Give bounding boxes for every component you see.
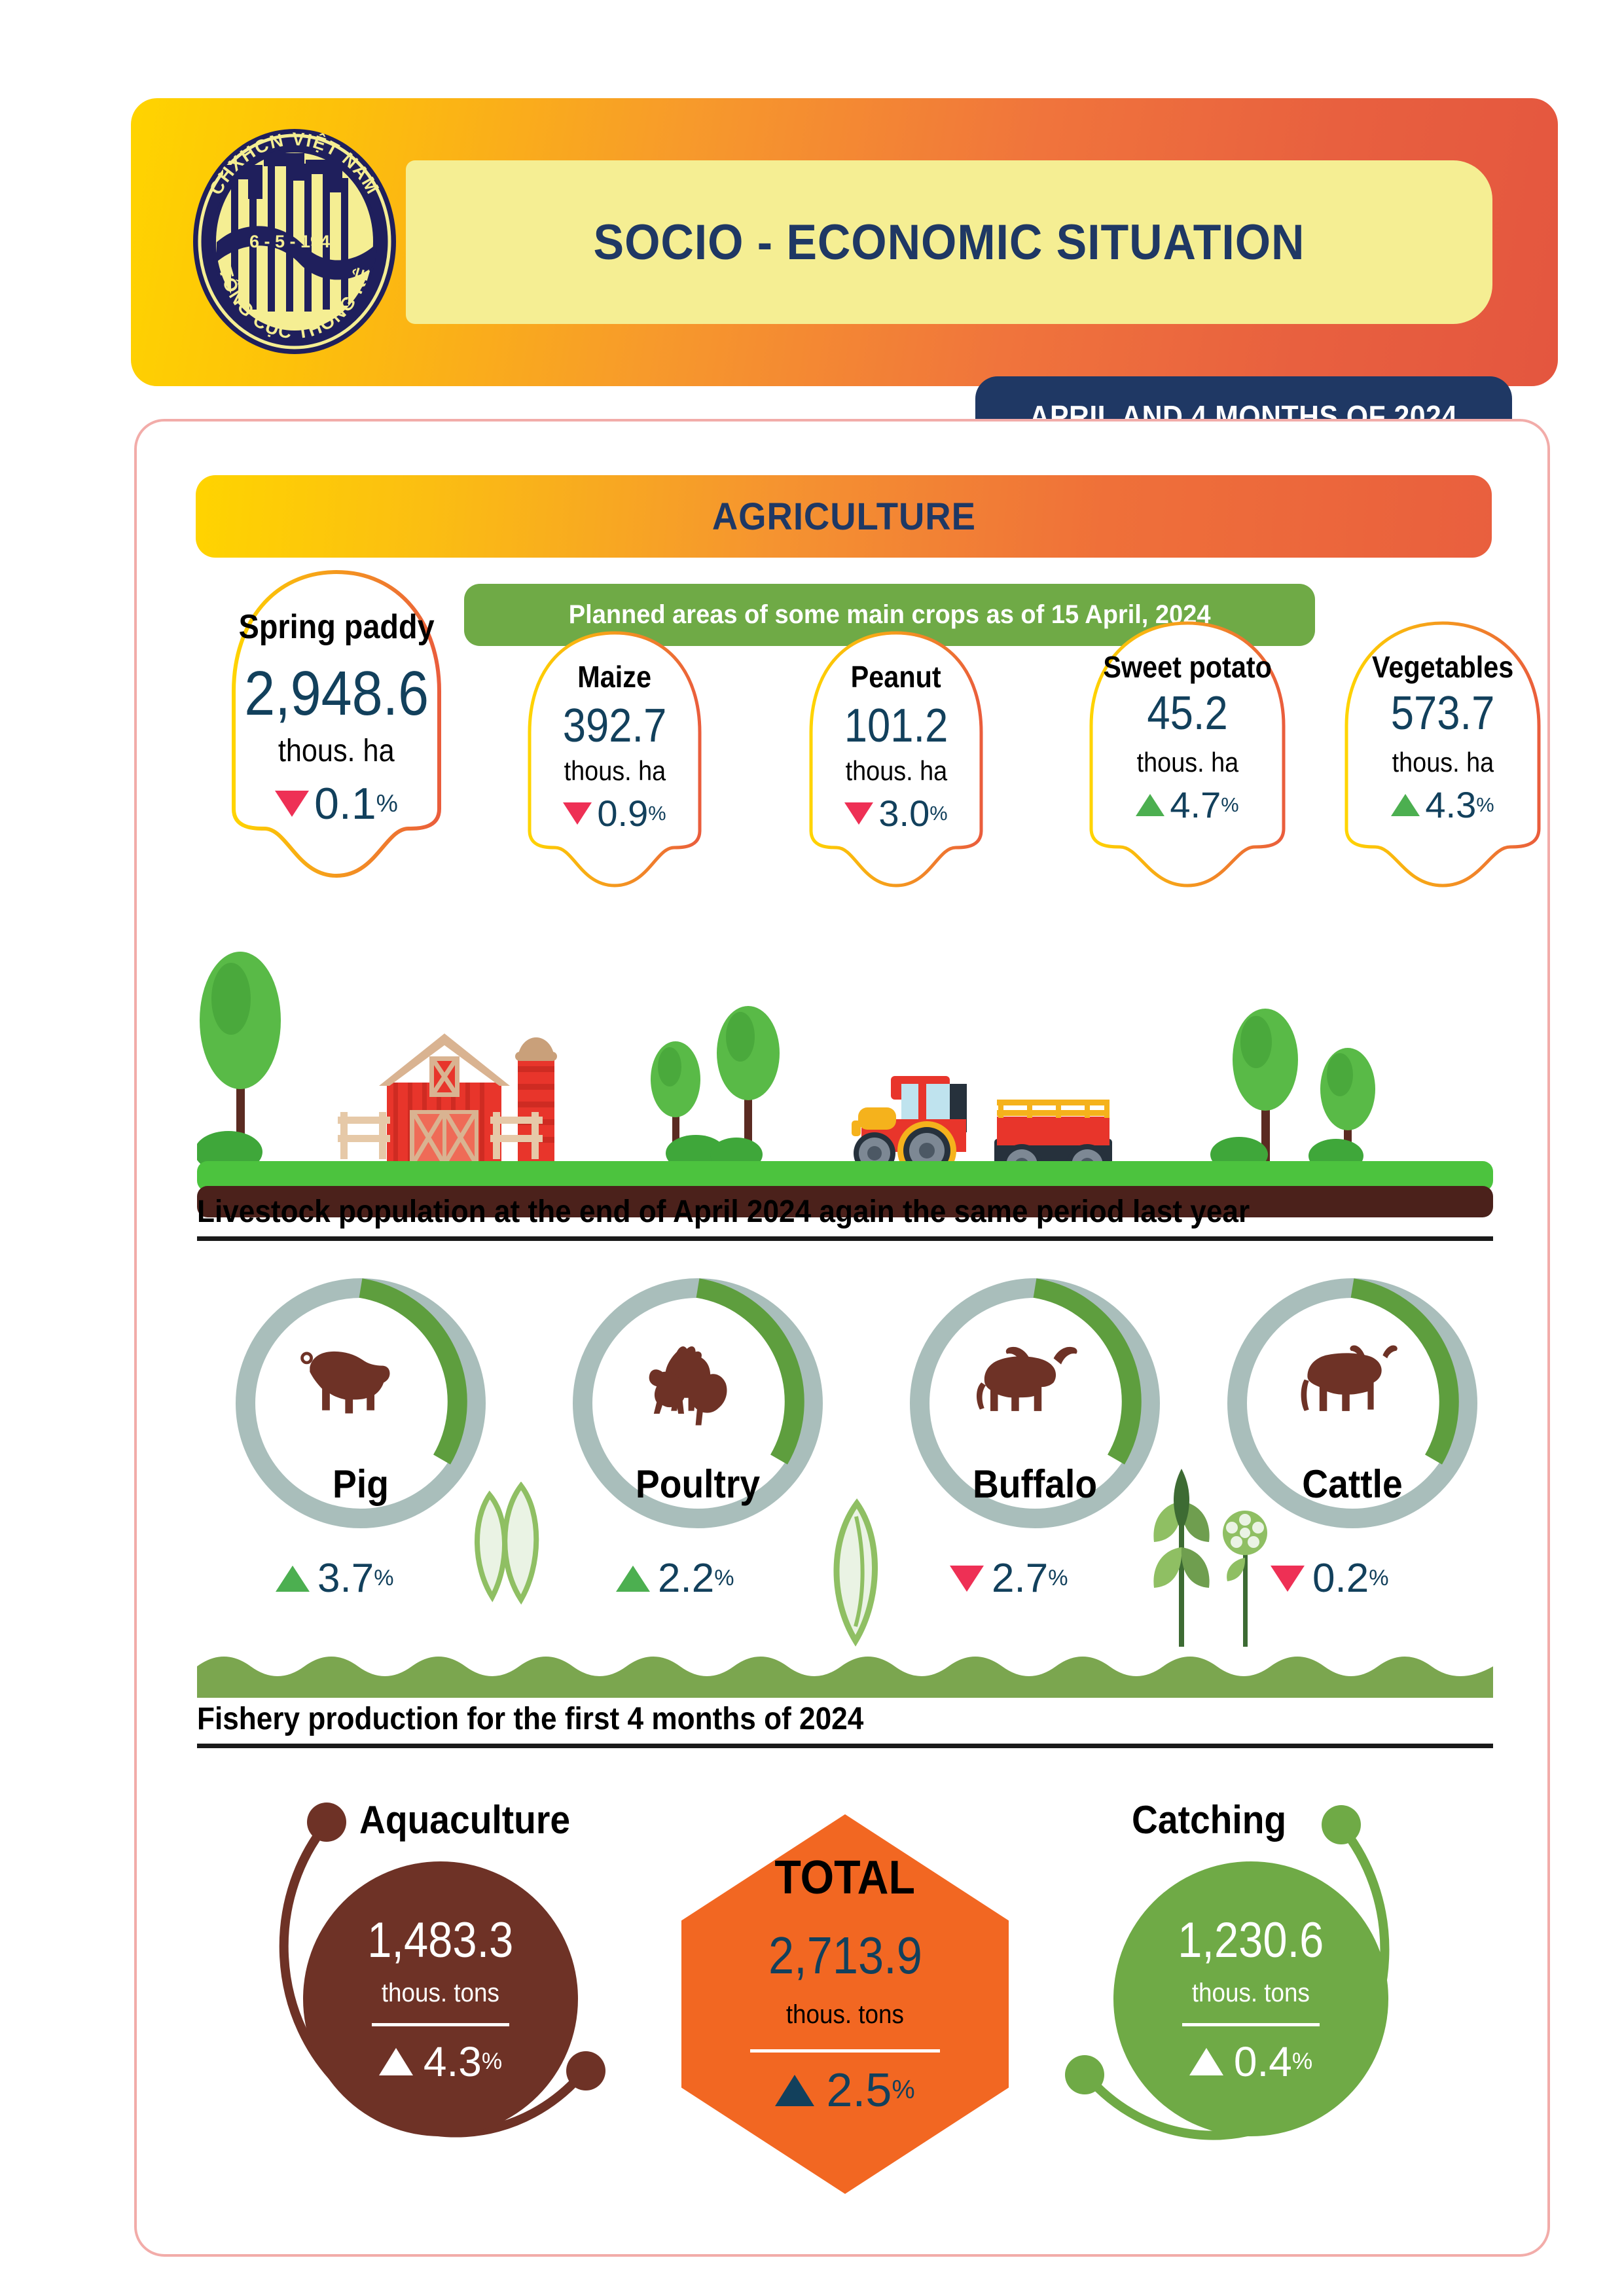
percent-sign: % <box>1221 795 1238 816</box>
livestock-donut-poultry: Poultry <box>560 1266 835 1541</box>
crop-value: 101.2 <box>844 702 948 749</box>
agriculture-label: AGRICULTURE <box>712 495 975 539</box>
trend-up-icon <box>1136 794 1164 816</box>
aquaculture-value: 1,483.3 <box>367 1916 513 1965</box>
crop-delta: 0.9 <box>597 795 648 832</box>
catching-label: Catching <box>1132 1797 1286 1842</box>
trend-up-icon <box>276 1566 310 1592</box>
percent-sign: % <box>929 804 947 824</box>
crop-name: Maize <box>578 662 652 692</box>
content-frame: AGRICULTURE Planned areas of some main c… <box>134 419 1550 2257</box>
percent-sign: % <box>482 2050 502 2073</box>
crop-unit: thous. ha <box>1392 749 1494 776</box>
crop-value: 2,948.6 <box>244 662 429 725</box>
crop-unit: thous. ha <box>845 757 947 785</box>
leaf-pair-decor <box>456 1482 573 1626</box>
fishery-heading: Fishery production for the first 4 month… <box>197 1701 1493 1748</box>
crop-unit: thous. ha <box>1136 749 1238 776</box>
fishery-group: Aquaculture 1,483.3 thous. tons 4.3 % TO… <box>197 1783 1493 2202</box>
orbit-dot <box>566 2051 605 2090</box>
tree-icon <box>200 952 281 1145</box>
farm-illustration <box>197 945 1493 1220</box>
orbit-dot <box>307 1803 346 1842</box>
trend-down-icon <box>950 1566 984 1592</box>
poultry-icon <box>649 1346 727 1425</box>
tree-icon <box>651 1006 780 1151</box>
total-delta: 2.5 <box>826 2067 892 2114</box>
barn-icon <box>338 1033 557 1161</box>
agriculture-banner: AGRICULTURE <box>196 475 1492 558</box>
total-label: TOTAL <box>775 1851 916 1905</box>
crop-pin-sweet-potato: Sweet potato 45.2 thous. ha 4.7 % <box>1079 618 1295 889</box>
orbit-dot <box>1065 2055 1104 2094</box>
leaf-decor <box>819 1498 891 1649</box>
catching-unit: thous. tons <box>1192 1980 1310 2006</box>
percent-sign: % <box>892 2077 914 2104</box>
crop-pin-vegetables: Vegetables 573.7 thous. ha 4.3 % <box>1335 618 1551 889</box>
total-hexagon: TOTAL 2,713.9 thous. tons 2.5 % <box>681 1814 1009 2194</box>
livestock-label: Buffalo <box>909 1462 1161 1507</box>
percent-sign: % <box>648 804 666 824</box>
crop-name: Vegetables <box>1372 652 1513 682</box>
livestock-label: Poultry <box>571 1462 824 1507</box>
catching-value: 1,230.6 <box>1178 1916 1324 1965</box>
percent-sign: % <box>714 1566 734 1591</box>
divider <box>372 2023 509 2026</box>
trend-up-icon <box>379 2048 413 2075</box>
percent-sign: % <box>1048 1566 1068 1591</box>
trend-down-icon <box>563 802 592 825</box>
crop-unit: thous. ha <box>278 736 395 767</box>
crop-name: Peanut <box>851 662 941 692</box>
livestock-group: Pig 3.7 % Poultry 2.2 % <box>197 1266 1493 1632</box>
title-band: SOCIO - ECONOMIC SITUATION <box>406 160 1492 324</box>
aquaculture-delta: 4.3 <box>424 2041 482 2083</box>
crop-value: 573.7 <box>1391 690 1495 737</box>
trend-down-icon <box>844 802 873 825</box>
divider <box>1182 2023 1320 2026</box>
divider <box>197 1744 1493 1748</box>
livestock-delta-poultry: 2.2 % <box>616 1555 734 1602</box>
crop-delta: 3.0 <box>878 795 929 832</box>
trend-up-icon <box>775 2075 814 2106</box>
gso-vietnam-logo: 6 - 5 - 1946 CHXHCN VIỆT NAM TỔNG CỤC TH… <box>187 126 403 358</box>
orbit-dot <box>1322 1805 1361 1844</box>
percent-sign: % <box>1369 1566 1388 1591</box>
delta-value: 2.7 <box>992 1555 1048 1602</box>
livestock-heading-text: Livestock population at the end of April… <box>197 1194 1390 1230</box>
divider <box>750 2049 940 2053</box>
trend-up-icon <box>1391 794 1420 816</box>
crop-pin-peanut: Peanut 101.2 thous. ha 3.0 % <box>801 628 991 889</box>
percent-sign: % <box>1292 2050 1312 2073</box>
delta-value: 3.7 <box>317 1555 374 1602</box>
trend-up-icon <box>1189 2048 1223 2075</box>
crop-delta: 4.3 <box>1425 787 1476 823</box>
pig-icon <box>302 1352 390 1414</box>
buffalo-icon <box>977 1347 1077 1411</box>
crop-name: Spring paddy <box>238 610 434 644</box>
trend-down-icon <box>275 791 309 817</box>
crop-value: 45.2 <box>1147 690 1227 737</box>
page-header: 6 - 5 - 1946 CHXHCN VIỆT NAM TỔNG CỤC TH… <box>131 98 1558 386</box>
total-unit: thous. tons <box>786 2000 904 2030</box>
aquaculture-unit: thous. tons <box>382 1980 499 2006</box>
total-value: 2,713.9 <box>768 1926 922 1986</box>
logo-date: 6 - 5 - 1946 <box>249 232 340 251</box>
livestock-label: Pig <box>234 1462 487 1507</box>
crop-unit: thous. ha <box>564 757 666 785</box>
livestock-heading: Livestock population at the end of April… <box>197 1194 1493 1241</box>
crop-name: Sweet potato <box>1103 652 1272 682</box>
crop-value: 392.7 <box>563 702 667 749</box>
percent-sign: % <box>1476 795 1494 816</box>
percent-sign: % <box>376 791 398 816</box>
crop-pin-maize: Maize 392.7 thous. ha 0.9 % <box>520 628 710 889</box>
aquaculture-label: Aquaculture <box>359 1797 570 1842</box>
cattle-icon <box>1301 1346 1398 1411</box>
trend-up-icon <box>616 1566 650 1592</box>
fishery-heading-text: Fishery production for the first 4 month… <box>197 1701 1390 1737</box>
catching-delta: 0.4 <box>1234 2041 1292 2083</box>
delta-value: 2.2 <box>658 1555 714 1602</box>
livestock-donut-buffalo: Buffalo <box>897 1266 1172 1541</box>
aquaculture-bubble: 1,483.3 thous. tons 4.3 % <box>303 1861 578 2136</box>
crop-delta: 4.7 <box>1170 787 1221 823</box>
crop-pin-spring-paddy: Spring paddy 2,948.6 thous. ha 0.1 % <box>222 567 451 881</box>
livestock-delta-pig: 3.7 % <box>276 1555 394 1602</box>
divider <box>197 1236 1493 1241</box>
plant-decor <box>1140 1462 1290 1652</box>
percent-sign: % <box>374 1566 393 1591</box>
catching-bubble: 1,230.6 thous. tons 0.4 % <box>1113 1861 1388 2136</box>
page-title: SOCIO - ECONOMIC SITUATION <box>449 160 1449 324</box>
crop-delta: 0.1 <box>314 781 376 826</box>
wavy-green-band <box>197 1652 1493 1698</box>
livestock-delta-buffalo: 2.7 % <box>950 1555 1068 1602</box>
delta-value: 0.2 <box>1312 1555 1369 1602</box>
